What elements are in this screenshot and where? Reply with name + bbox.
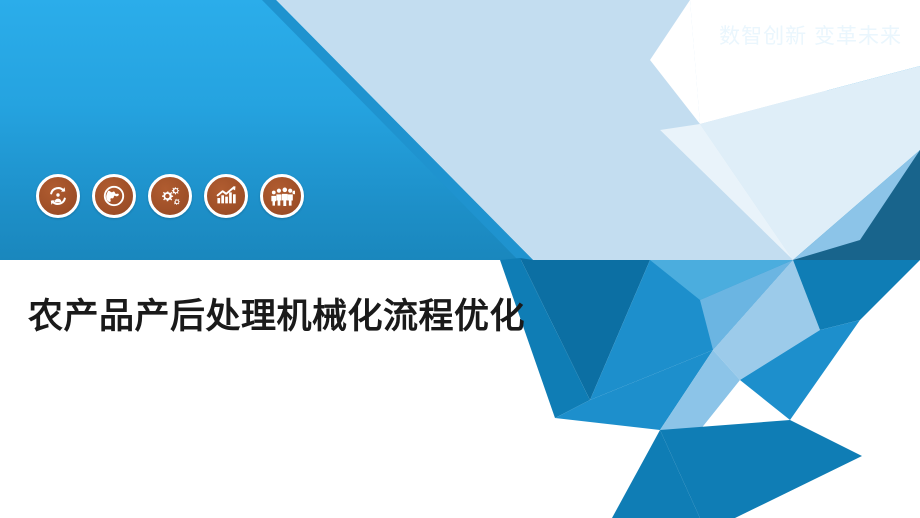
crystal-right-deep-b	[740, 320, 860, 420]
crystal-light-facet-b	[700, 260, 793, 350]
people-group-icon	[270, 184, 295, 209]
icon-badge-bar-chart-growth[interactable]	[204, 174, 248, 218]
presentation-slide: 数智创新 变革未来	[0, 0, 920, 518]
crystal-right-deep	[793, 260, 920, 330]
crystal-pale-facet	[713, 260, 820, 380]
globe-icon	[102, 184, 126, 208]
icon-badge-people-group[interactable]	[260, 174, 304, 218]
tagline: 数智创新 变革未来	[719, 26, 902, 47]
recycle-person-icon	[46, 184, 70, 208]
lower-banner-parallelogram	[660, 420, 862, 518]
bar-chart-growth-icon	[214, 184, 238, 208]
crystal-pale-facet-b	[660, 350, 740, 430]
gears-icon	[158, 184, 183, 209]
lower-banner-parallelogram-b	[612, 430, 700, 518]
crystal-light-facet	[650, 260, 793, 300]
title-block: 农产品产后处理机械化流程优化	[28, 292, 588, 342]
icon-strip	[36, 174, 304, 218]
icon-badge-globe[interactable]	[92, 174, 136, 218]
icon-badge-gears[interactable]	[148, 174, 192, 218]
crystal-mid-facet	[590, 260, 793, 400]
icon-badge-recycle-person[interactable]	[36, 174, 80, 218]
crystal-mid-facet-b	[555, 350, 713, 430]
page-title: 农产品产后处理机械化流程优化	[28, 292, 588, 342]
